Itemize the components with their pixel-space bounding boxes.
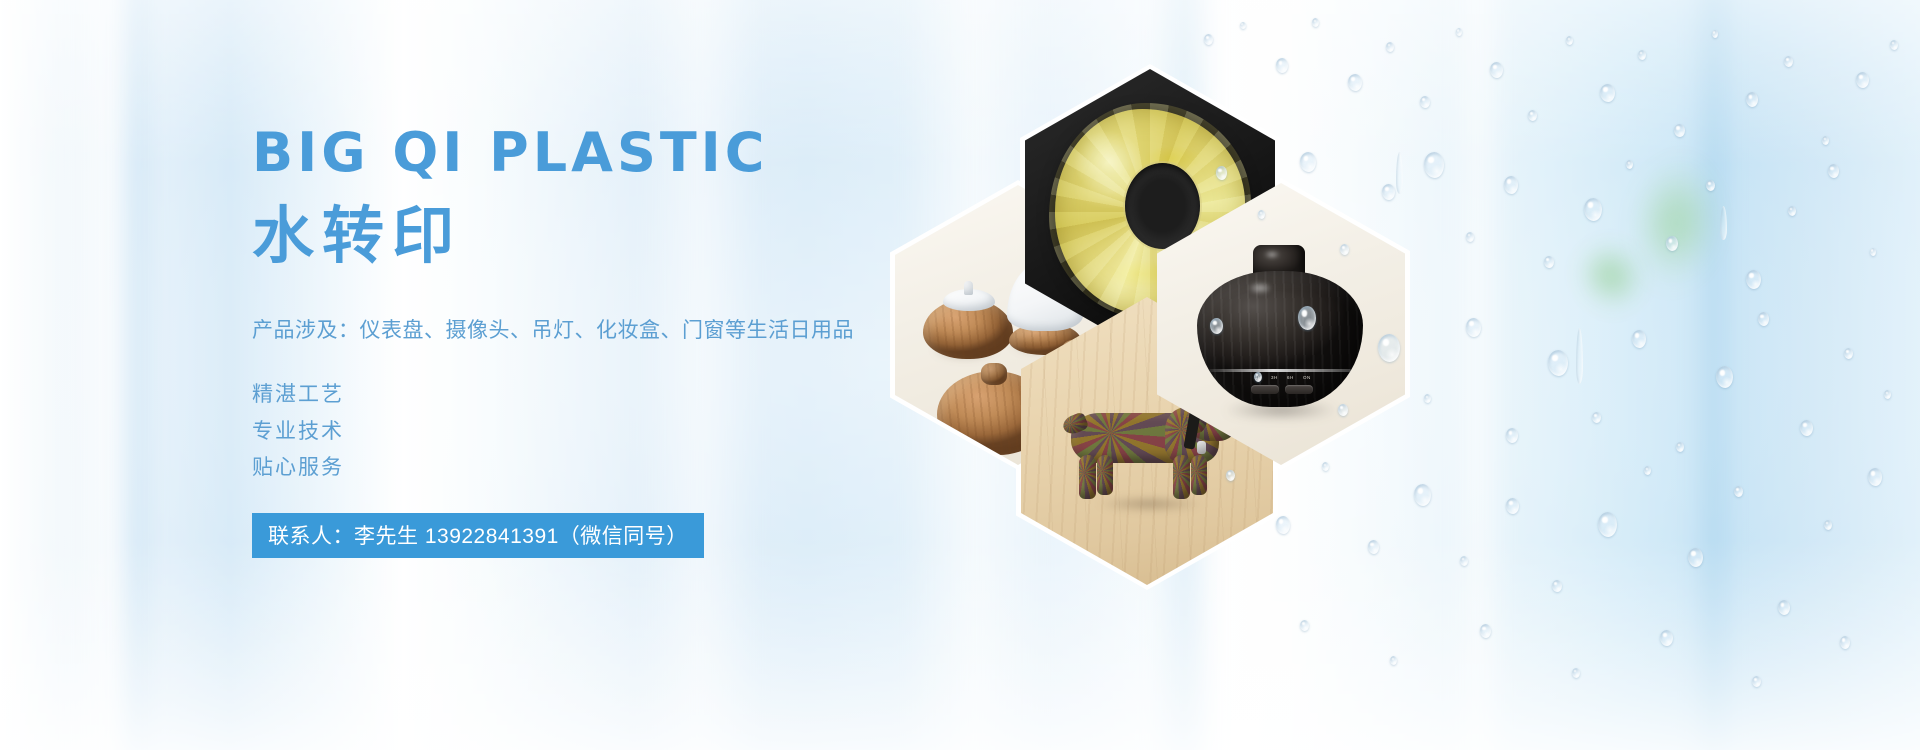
banner-copy: BIG QI PLASTIC 水转印 产品涉及：仪表盘、摄像头、吊灯、化妆盒、门… [252,126,912,558]
diffuser-wood-round [923,281,1013,359]
feature-item: 专业技术 [252,414,912,451]
diffuser-button-mist[interactable] [1251,385,1279,394]
brand-name-en: BIG QI PLASTIC [252,126,912,180]
timer-label-1h: 1H [1255,375,1262,380]
product-hexagon-cluster: 1H 3H 6H ON [880,70,1520,510]
feature-item: 贴心服务 [252,450,912,487]
timer-label-on: ON [1303,375,1311,380]
timer-label-3h: 3H [1271,375,1278,380]
feature-list: 精湛工艺 专业技术 贴心服务 [252,377,912,487]
feature-item: 精湛工艺 [252,377,912,414]
timer-label-6h: 6H [1287,375,1294,380]
diffuser-light-ring [1209,369,1351,372]
brand-name-cn: 水转印 [252,202,912,271]
diffuser-black-body [1197,271,1363,407]
dog-collar-tag [1197,441,1206,454]
promo-banner: BIG QI PLASTIC 水转印 产品涉及：仪表盘、摄像头、吊灯、化妆盒、门… [0,0,1920,750]
contact-bar[interactable]: 联系人：李先生 13922841391（微信同号） [252,513,704,558]
product-scope-text: 产品涉及：仪表盘、摄像头、吊灯、化妆盒、门窗等生活日用品 [252,315,912,347]
diffuser-button-light[interactable] [1285,385,1313,394]
